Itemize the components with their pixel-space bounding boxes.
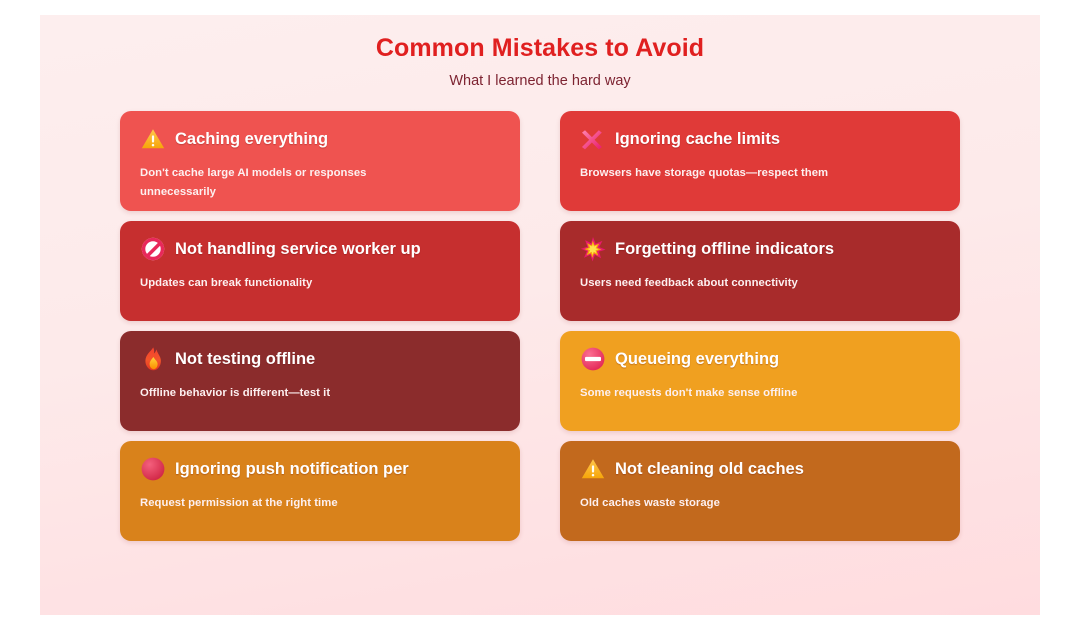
no-entry-icon [580,346,606,372]
mistake-card-description: Request permission at the right time [140,494,440,513]
slide-panel: Common Mistakes to Avoid What I learned … [40,15,1040,615]
mistake-card-header: Ignoring push notification per [140,455,500,483]
prohibited-icon [140,236,166,262]
mistake-card-title: Not testing offline [175,350,315,369]
mistake-card-header: Not cleaning old caches [580,455,940,483]
mistake-card-title: Caching everything [175,130,328,149]
mistake-card[interactable]: Ignoring push notification perRequest pe… [120,441,520,541]
page-subtitle: What I learned the hard way [40,73,1040,90]
mistake-card-header: Forgetting offline indicators [580,235,940,263]
mistake-card[interactable]: Not cleaning old cachesOld caches waste … [560,441,960,541]
mistake-card-title: Ignoring cache limits [615,130,780,149]
mistake-card-header: Ignoring cache limits [580,125,940,153]
collision-star-icon [580,236,606,262]
mistake-card-header: Caching everything [140,125,500,153]
mistake-card[interactable]: Caching everythingDon't cache large AI m… [120,111,520,211]
mistake-card-description: Some requests don't make sense offline [580,384,880,403]
mistake-card[interactable]: Ignoring cache limitsBrowsers have stora… [560,111,960,211]
mistake-card[interactable]: Queueing everythingSome requests don't m… [560,331,960,431]
page-title: Common Mistakes to Avoid [40,33,1040,64]
red-circle-icon [140,456,166,482]
warning-triangle-icon [140,126,166,152]
fire-icon [140,346,166,372]
warning-triangle-icon [580,456,606,482]
mistake-card-grid: Caching everythingDon't cache large AI m… [100,111,980,551]
mistake-card-header: Not testing offline [140,345,500,373]
mistake-card-description: Users need feedback about connectivity [580,274,880,293]
mistake-card[interactable]: Not handling service worker upUpdates ca… [120,221,520,321]
mistake-card-description: Browsers have storage quotas—respect the… [580,164,880,183]
slide-header: Common Mistakes to Avoid What I learned … [40,15,1040,91]
mistake-card[interactable]: Not testing offlineOffline behavior is d… [120,331,520,431]
mistake-card-header: Not handling service worker up [140,235,500,263]
mistake-card-description: Offline behavior is different—test it [140,384,440,403]
mistake-card-header: Queueing everything [580,345,940,373]
mistake-card-description: Old caches waste storage [580,494,880,513]
mistake-card-description: Updates can break functionality [140,274,440,293]
mistake-card-title: Queueing everything [615,350,779,369]
mistake-card-description: Don't cache large AI models or responses… [140,164,440,203]
mistake-card-title: Ignoring push notification per [175,460,409,479]
mistake-card-title: Forgetting offline indicators [615,240,834,259]
mistake-card[interactable]: Forgetting offline indicatorsUsers need … [560,221,960,321]
mistake-card-title: Not handling service worker up [175,240,421,259]
mistake-card-title: Not cleaning old caches [615,460,804,479]
cross-mark-icon [580,126,606,152]
